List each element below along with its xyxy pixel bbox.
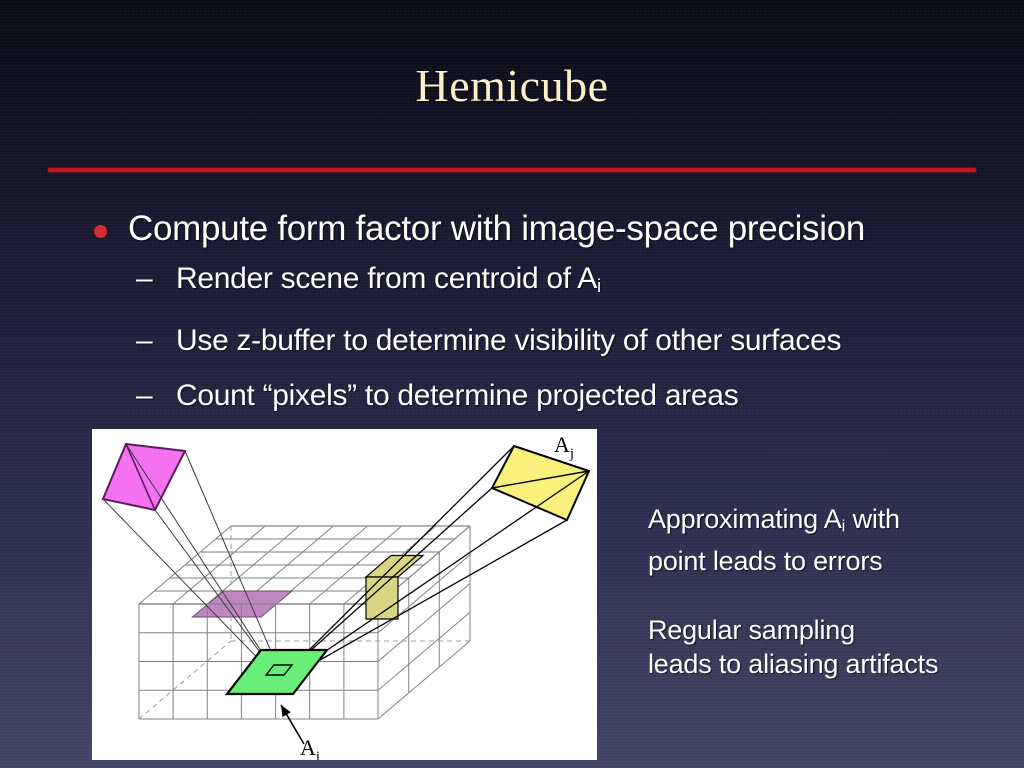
bullet-level2-render-scene: – Render scene from centroid of Ai (84, 258, 984, 306)
label-aj-letter: A (554, 432, 570, 457)
bullet-level2-label: Count “pixels” to determine projected ar… (176, 379, 738, 412)
label-aj: Aj (554, 432, 574, 462)
bullet-level2-label: Use z-buffer to determine visibility of … (176, 324, 841, 357)
dash-icon: – (136, 258, 152, 299)
bullet-level2-count-pixels: – Count “pixels” to determine projected … (84, 375, 984, 416)
bullet-dot-icon (94, 225, 107, 238)
bullet-level1-label: Compute form factor with image-space pre… (128, 209, 865, 248)
annotation-line-1b: with (845, 504, 900, 534)
label-ai-letter: A (300, 735, 316, 760)
bullet-list: Compute form factor with image-space pre… (84, 206, 984, 430)
annotation-line-2: point leads to errors (648, 546, 882, 576)
bullet-level2-z-buffer: – Use z-buffer to determine visibility o… (84, 320, 984, 361)
annotation-line-1a: Approximating A (648, 504, 842, 534)
dash-icon: – (136, 320, 152, 361)
slide-canvas: Hemicube Compute form factor with image-… (0, 0, 1024, 768)
receiver-patch-green (227, 650, 327, 694)
source-patch-yellow-group (280, 446, 589, 681)
label-ai-group: Ai (281, 705, 320, 760)
bullet-level2-label: Render scene from centroid of A (176, 262, 597, 295)
label-ai: Ai (300, 735, 320, 760)
receiver-patch-group (227, 650, 327, 694)
projection-patch-olive-top (366, 556, 423, 578)
label-aj-subscript: j (569, 446, 574, 462)
title-divider-rule (48, 168, 976, 172)
dash-icon: – (136, 375, 152, 416)
source-patch-magenta (103, 444, 185, 510)
page-title: Hemicube (0, 60, 1024, 112)
annotation-line-1: Regular sampling (648, 615, 855, 645)
source-patch-yellow (492, 446, 589, 520)
hemicube-diagram-figure: Ai Aj (92, 429, 597, 760)
bullet-level2-subscript: i (597, 275, 601, 296)
annotation-line-2: leads to aliasing artifacts (648, 649, 938, 679)
top-face-grid (139, 526, 470, 604)
annotation-approximating: Approximating Ai with point leads to err… (648, 502, 1018, 578)
source-patch-magenta-group (103, 444, 282, 678)
label-aj-group: Aj (554, 432, 574, 462)
hemicube-diagram-svg: Ai Aj (92, 429, 597, 760)
annotation-regular-sampling: Regular sampling leads to aliasing artif… (648, 613, 1024, 681)
bullet-level1: Compute form factor with image-space pre… (84, 206, 984, 252)
label-ai-subscript: i (316, 749, 320, 760)
